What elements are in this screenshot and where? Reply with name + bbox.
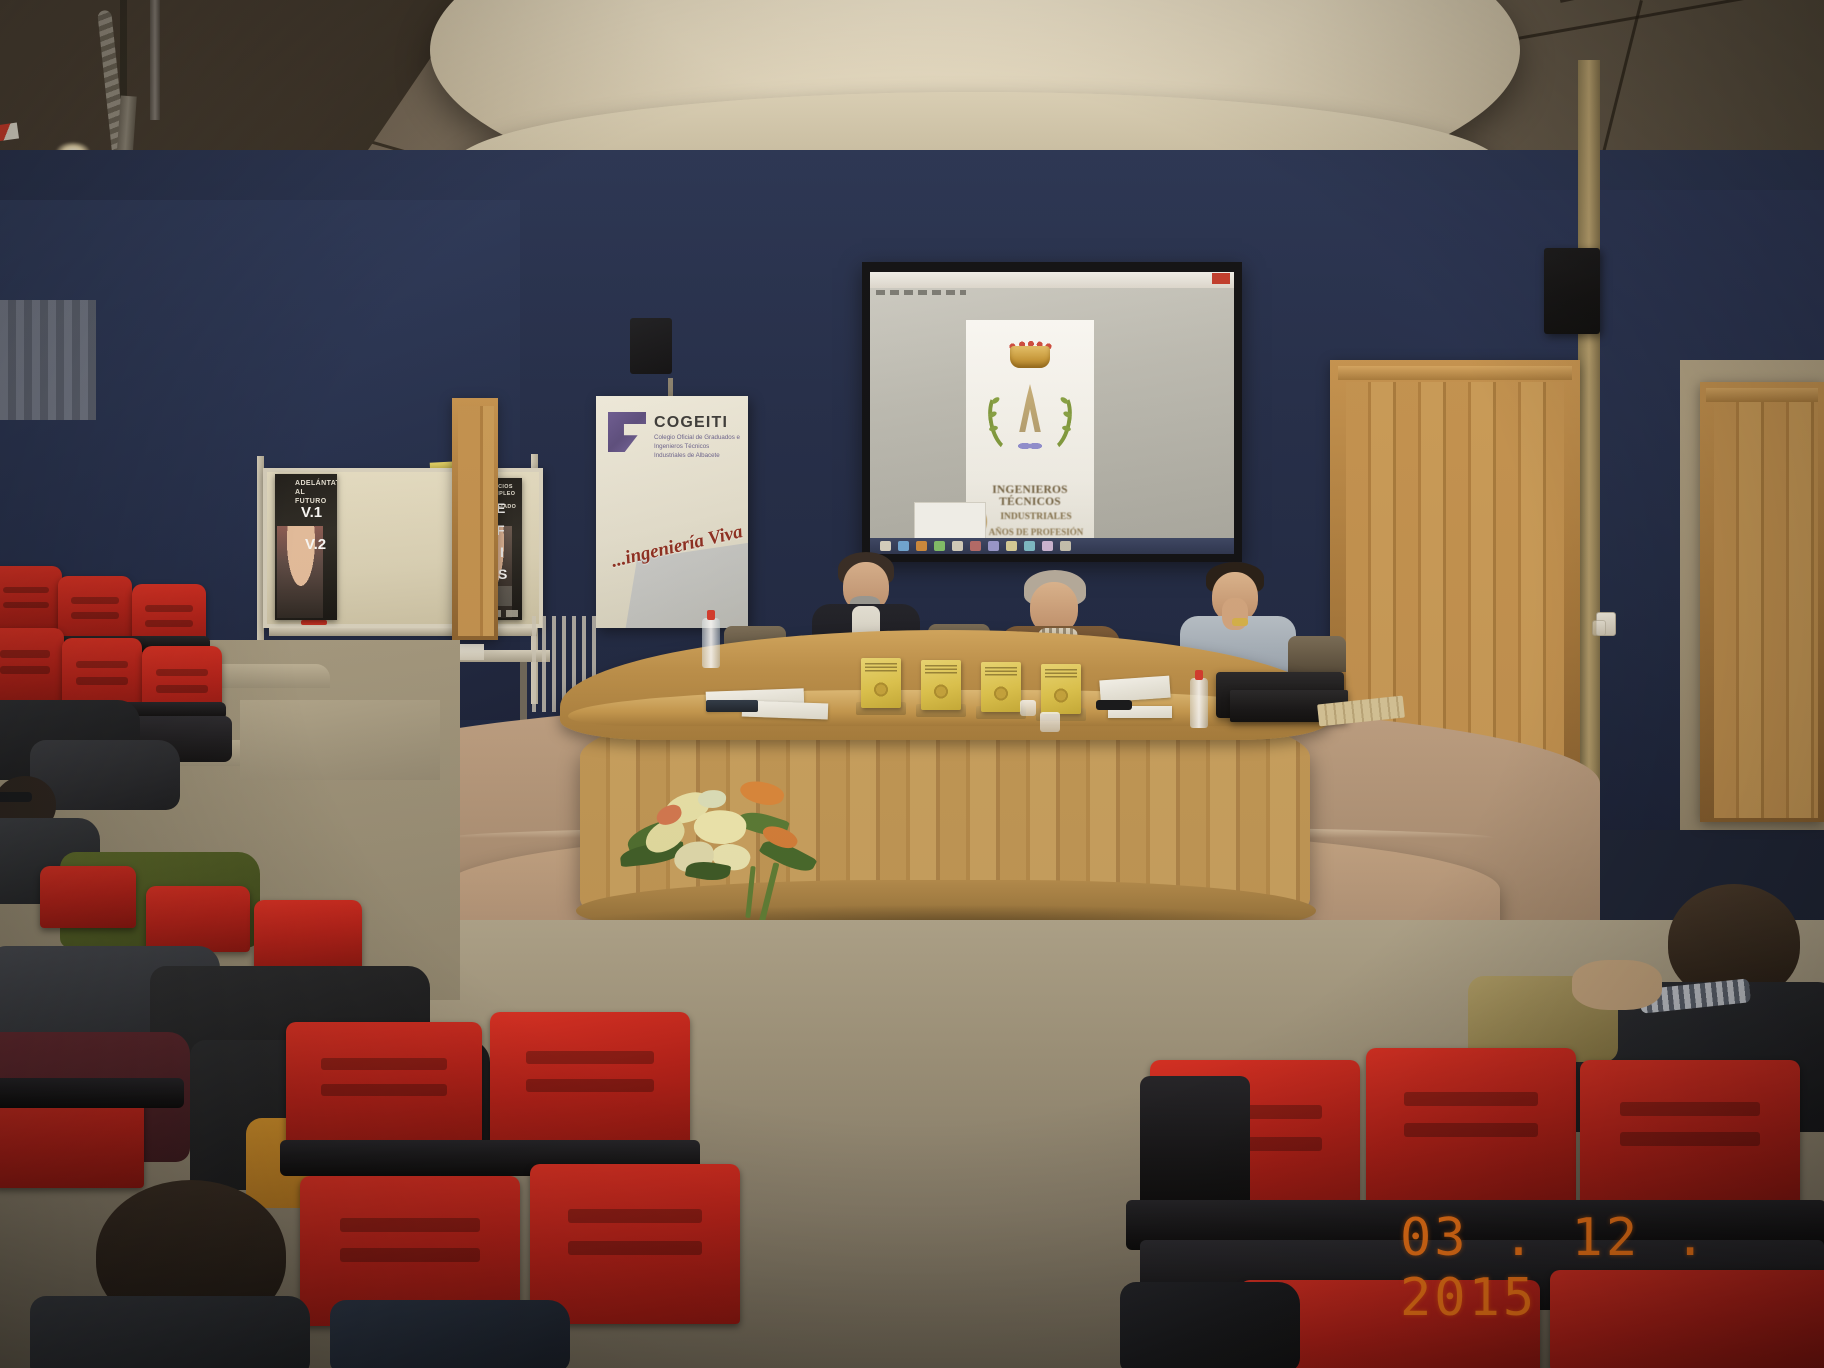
camera-date-stamp: 03 . 12 . 2015 — [1400, 1208, 1824, 1328]
projector-rod — [120, 0, 127, 108]
water-bottle — [702, 618, 720, 668]
eyeglasses-icon — [0, 792, 32, 802]
marker-red — [301, 620, 327, 625]
auditorium-seat[interactable] — [0, 628, 64, 708]
poster-left-line2: V.2 — [305, 536, 326, 553]
auditorium-seat[interactable] — [1366, 1048, 1576, 1204]
poster-right-letter-s: S — [498, 566, 507, 582]
window-curtain — [0, 300, 96, 420]
table-remote[interactable] — [1096, 700, 1132, 710]
attendee-shoulders — [330, 1300, 570, 1368]
auditorium-seat[interactable] — [530, 1164, 740, 1324]
light-switch-secondary[interactable] — [1592, 620, 1606, 636]
table-row — [981, 662, 1021, 712]
cogeiti-subtitle: Colegio Oficial de Graduados e Ingeniero… — [654, 434, 742, 461]
draped-coat — [1120, 1282, 1300, 1368]
table-row — [921, 660, 961, 710]
auditorium-seat[interactable] — [1580, 1060, 1800, 1210]
auditorium-photograph: 0 INGENIEROS TÉCNICOS INDUSTRIALES AÑOS … — [0, 0, 1824, 1368]
auditorium-seat[interactable] — [254, 900, 362, 970]
poster-adelantate-al-futuro: ADELÁNTATE AL FUTURO V.1 V.2 — [275, 474, 337, 620]
seat-armrest — [1140, 1076, 1250, 1216]
table-row — [861, 658, 901, 708]
cogeiti-rollup-banner: COGEITI Colegio Oficial de Graduados e I… — [596, 396, 748, 628]
screen-taskbar — [870, 538, 1234, 554]
auditorium-seat[interactable] — [286, 1022, 482, 1152]
wristwatch — [1232, 618, 1248, 626]
auditorium-seat[interactable] — [490, 1012, 690, 1152]
screen-menubar — [876, 290, 966, 295]
seat-armrest — [0, 1078, 184, 1108]
poster-left-line1: V.1 — [301, 504, 322, 521]
projection-screen: 0 INGENIEROS TÉCNICOS INDUSTRIALES AÑOS … — [870, 272, 1234, 554]
drinking-glass — [1020, 700, 1036, 716]
screen-close-icon — [1212, 273, 1230, 284]
auditorium-seat[interactable] — [40, 866, 136, 928]
attendee-hands — [1572, 960, 1662, 1010]
banner-support-pole — [668, 378, 673, 398]
seating-riser — [240, 700, 440, 780]
attendee-shoulders — [30, 1296, 310, 1368]
slide-subtitle: INDUSTRIALES — [982, 512, 1090, 522]
auditorium-seat[interactable] — [146, 886, 250, 952]
slide-subtitle-2: AÑOS DE PROFESIÓN — [982, 527, 1090, 537]
screen-window-titlebar — [870, 272, 1234, 288]
table-row — [1041, 664, 1081, 714]
wall-column — [1578, 60, 1600, 820]
table-book-dark — [706, 700, 758, 712]
stage-chair — [1288, 636, 1346, 672]
banner-flag-icon — [0, 123, 19, 142]
poster-left-headline: ADELÁNTATE AL FUTURO — [295, 480, 331, 506]
wall-speaker-right — [1544, 248, 1600, 334]
drinking-glass — [1040, 712, 1060, 732]
door-far-right-frame[interactable] — [1700, 382, 1824, 822]
cogeiti-logo-icon — [608, 412, 646, 452]
wall-speaker-left — [630, 318, 672, 374]
royal-crest-icon — [987, 346, 1073, 456]
floral-arrangement — [620, 770, 840, 920]
projector-pole — [150, 0, 160, 120]
water-bottle — [1190, 678, 1208, 728]
cogeiti-name: COGEITI — [654, 414, 728, 432]
poster-right-letter-i: I — [500, 544, 504, 560]
slide-title: INGENIEROS TÉCNICOS — [970, 484, 1090, 508]
door-left-frame[interactable] — [452, 398, 498, 640]
